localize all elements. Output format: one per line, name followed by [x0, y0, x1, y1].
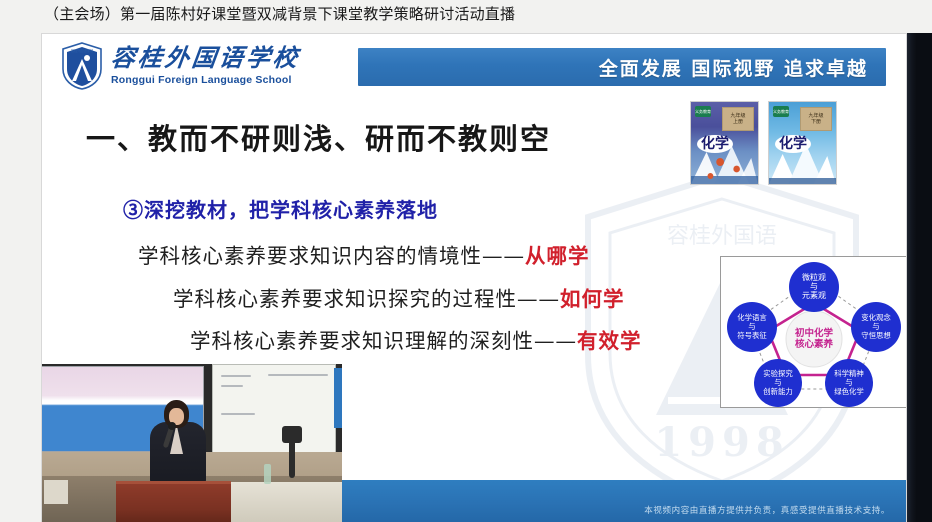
stream-disclaimer: 本视频内容由直播方提供并负责，真感受提供直播技术支持。	[644, 504, 890, 516]
bullet-1-text: 学科核心素养要求知识内容的情境性——	[138, 244, 525, 268]
svg-text:创新能力: 创新能力	[763, 387, 793, 396]
textbook-cover-1: 义务教育 九年级 上册 化学	[690, 101, 759, 185]
svg-text:与: 与	[872, 322, 879, 331]
textbook-1-grade: 九年级 上册	[722, 107, 754, 131]
svg-text:变化观念: 变化观念	[861, 313, 891, 322]
bullet-3-text: 学科核心素养要求知识理解的深刻性——	[190, 329, 577, 353]
textbook-cover-2: 义务教育 九年级 下册 化学	[768, 101, 837, 185]
svg-text:绿色化学: 绿色化学	[834, 387, 864, 396]
svg-text:微粒观: 微粒观	[802, 272, 826, 282]
svg-text:化学语言: 化学语言	[737, 313, 767, 322]
side-chair	[44, 480, 68, 504]
svg-text:与: 与	[810, 282, 818, 291]
diagram-center-line1: 初中化学	[795, 327, 834, 339]
school-motto-text: 全面发展 国际视野 追求卓越	[599, 54, 868, 81]
bullet-1-highlight: 从哪学	[525, 244, 590, 268]
page-gutter	[0, 28, 41, 522]
bullet-line-2: 学科核心素养要求知识探究的过程性——如何学	[173, 282, 625, 312]
bullet-2-highlight: 如何学	[560, 287, 625, 311]
bullet-2-text: 学科核心素养要求知识探究的过程性——	[173, 287, 560, 311]
whiteboard	[212, 364, 336, 462]
podium	[116, 481, 231, 522]
textbook-2-title: 化学	[775, 135, 811, 153]
school-name-cn: 容桂外国语学校	[110, 46, 302, 70]
svg-text:与: 与	[774, 378, 781, 387]
school-crest-icon: 容桂外国语学校	[60, 41, 104, 91]
school-name-en: Ronggui Foreign Language School	[111, 75, 300, 86]
svg-text:容桂外国语学校: 容桂外国语学校	[71, 48, 94, 53]
water-bottle	[264, 464, 271, 484]
pip-blue-edge	[334, 368, 342, 428]
bullet-3-highlight: 有效学	[577, 329, 642, 353]
textbook-1-title: 化学	[697, 135, 733, 153]
svg-text:与: 与	[748, 322, 755, 331]
slide-heading: 一、教而不研则浅、研而不教则空	[86, 116, 551, 158]
svg-text:与: 与	[845, 378, 852, 387]
slide-header: 容桂外国语学校 容桂外国语学校 Ronggui Foreign Language…	[42, 34, 906, 94]
side-desk	[230, 482, 342, 522]
bullet-line-1: 学科核心素养要求知识内容的情境性——从哪学	[138, 239, 590, 269]
microphone-head	[168, 422, 176, 430]
core-literacy-diagram: 初中化学 核心素养 微粒观 与 元素观 变化观念 与 守恒思想 科学精神 与	[720, 256, 907, 408]
svg-text:守恒思想: 守恒思想	[861, 331, 891, 340]
school-logo: 容桂外国语学校 容桂外国语学校 Ronggui Foreign Language…	[60, 41, 300, 91]
svg-text:科学精神: 科学精神	[834, 369, 864, 378]
watermark-year: 1998	[572, 419, 872, 466]
textbook-2-volume-text: 下册	[811, 119, 821, 126]
slide-subheading: ③深挖教材，把学科核心素养落地	[123, 194, 438, 223]
live-video-player[interactable]: 容桂外国语学校 容桂外国语学校 Ronggui Foreign Language…	[41, 33, 907, 522]
lecture-hall-scene	[42, 364, 342, 522]
diagram-center-line2: 核心素养	[795, 338, 834, 350]
document-camera-head	[282, 426, 302, 443]
speaker-camera-overlay[interactable]	[42, 364, 342, 522]
bullet-line-3: 学科核心素养要求知识理解的深刻性——有效学	[190, 324, 642, 354]
svg-text:容桂外国语: 容桂外国语	[667, 224, 777, 249]
textbook-2-grade: 九年级 下册	[800, 107, 832, 131]
svg-text:元素观: 元素观	[802, 290, 826, 300]
page-right-background	[916, 33, 932, 522]
textbook-1-volume-text: 上册	[733, 119, 743, 126]
svg-text:实验探究: 实验探究	[763, 369, 793, 378]
page-title: （主会场）第一届陈村好课堂暨双减背景下课堂教学策略研讨活动直播	[44, 3, 515, 24]
textbook-images: 义务教育 九年级 上册 化学 义务教育	[690, 101, 837, 185]
school-motto-banner: 全面发展 国际视野 追求卓越	[358, 48, 886, 86]
player-right-edge	[907, 33, 916, 522]
screen: （主会场）第一届陈村好课堂暨双减背景下课堂教学策略研讨活动直播 容桂外国语学校	[0, 0, 932, 522]
textbook-2-stamp: 义务教育	[773, 106, 789, 117]
textbook-1-stamp: 义务教育	[695, 106, 711, 117]
svg-text:符号表征: 符号表征	[737, 331, 767, 340]
